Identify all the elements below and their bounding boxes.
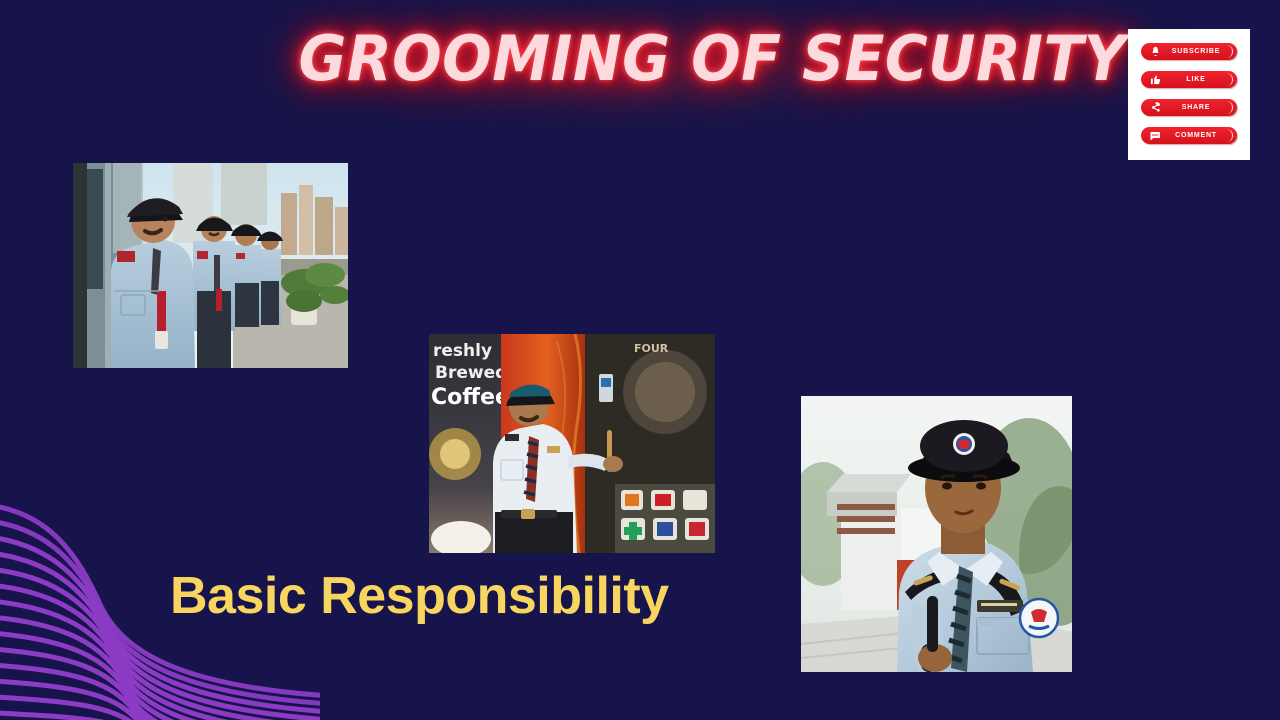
guard-solo-photo (801, 396, 1072, 672)
slide-caption: Basic Responsibility (170, 566, 669, 626)
bell-icon (1147, 45, 1163, 58)
svg-text:Brewed: Brewed (435, 363, 507, 383)
comment-label: COMMENT (1163, 132, 1237, 139)
like-button[interactable]: LIKE (1141, 71, 1237, 88)
svg-text:FOUR: FOUR (634, 342, 669, 355)
share-label: SHARE (1163, 104, 1237, 111)
subscribe-label: SUBSCRIBE (1163, 48, 1237, 55)
guard-line-photo (73, 163, 348, 368)
share-button[interactable]: SHARE (1141, 99, 1237, 116)
like-label: LIKE (1163, 76, 1237, 83)
presentation-slide: GROOMING OF SECURITY (0, 0, 1280, 720)
svg-text:Coffee: Coffee (431, 385, 510, 410)
share-icon (1147, 101, 1163, 114)
guard-cafe-photo: reshly Brewed Coffee FOUR (429, 334, 715, 553)
comment-button[interactable]: COMMENT (1141, 127, 1237, 144)
thumbs-up-icon (1147, 73, 1163, 86)
social-cta-card: SUBSCRIBE LIKE SHARE COMMENT (1128, 29, 1250, 160)
page-title: GROOMING OF SECURITY (299, 16, 942, 102)
comment-bubble-icon (1147, 129, 1163, 142)
subscribe-button[interactable]: SUBSCRIBE (1141, 43, 1237, 60)
svg-text:reshly: reshly (433, 341, 492, 361)
